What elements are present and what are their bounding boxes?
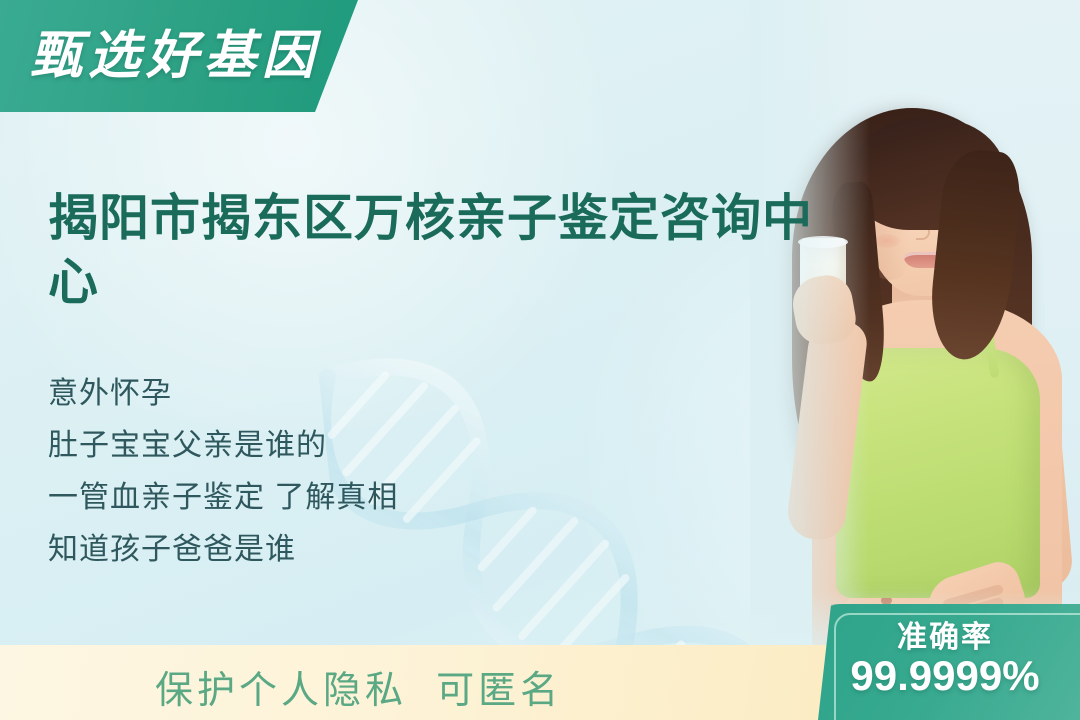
brand-logo-badge[interactable]: 甄选好基因 xyxy=(0,0,358,112)
marketing-copy-block: 意外怀孕 肚子宝宝父亲是谁的 一管血亲子鉴定 了解真相 知道孩子爸爸是谁 xyxy=(48,368,608,576)
page-title: 揭阳市揭东区万核亲子鉴定咨询中心 xyxy=(48,186,848,314)
brand-logo-text: 甄选好基因 xyxy=(30,16,320,96)
privacy-bar-text: 保护个人隐私 可匿名 xyxy=(155,659,562,714)
copy-line-3: 一管血亲子鉴定 了解真相 xyxy=(48,472,608,524)
copy-line-4: 知道孩子爸爸是谁 xyxy=(48,524,608,576)
accuracy-badge-value: 99.9999% xyxy=(818,652,1072,700)
cheek-left xyxy=(874,234,900,248)
accuracy-badge-label: 准确率 xyxy=(818,612,1072,656)
promo-banner: 甄选好基因 揭阳市揭东区万核亲子鉴定咨询中心 意外怀孕 肚子宝宝父亲是谁的 一管… xyxy=(0,0,1080,720)
pregnant-woman-photo xyxy=(750,0,1080,660)
photo-edge-fade-left xyxy=(750,0,870,660)
accuracy-badge: 准确率 99.9999% xyxy=(818,604,1080,720)
copy-line-1: 意外怀孕 xyxy=(48,368,608,420)
copy-line-2: 肚子宝宝父亲是谁的 xyxy=(48,420,608,472)
